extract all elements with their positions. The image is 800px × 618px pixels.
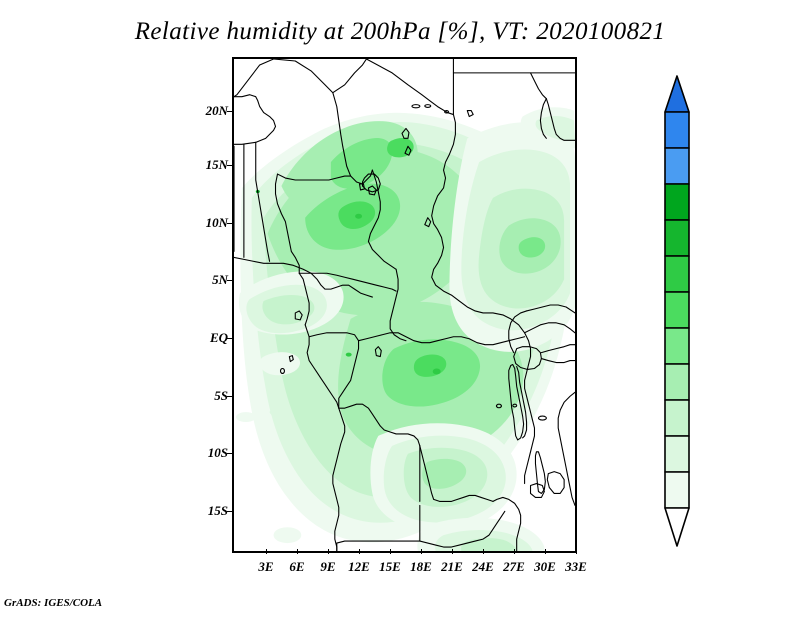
colorbar-over-arrow [665,76,689,112]
y-tick-label-5s: 5S [186,388,228,404]
y-tick-mark [227,453,232,454]
x-tick-mark [483,549,484,554]
x-tick-label-33e: 33E [565,559,587,575]
y-tick-label-eq: EQ [186,330,228,346]
map-canvas [234,59,575,551]
x-tick-mark [514,549,515,554]
x-tick-label-24e: 24E [472,559,494,575]
colorbar-band-40-50 [665,472,689,508]
colorbar-band-97-99 [665,112,689,148]
page-title: Relative humidity at 200hPa [%], VT: 202… [0,18,800,46]
y-tick-label-10s: 10S [186,445,228,461]
x-tick-label-6e: 6E [289,559,304,575]
colorbar-canvas [664,72,704,550]
colorbar-band-50-60 [665,436,689,472]
colorbar-band-80-85 [665,292,689,328]
x-tick-mark [297,549,298,554]
x-tick-mark [328,549,329,554]
colorbar-band-70-75 [665,364,689,400]
y-tick-label-15n: 15N [186,157,228,173]
colorbar-band-85-90 [665,256,689,292]
colorbar-band-60-70 [665,400,689,436]
y-tick-mark [227,111,232,112]
x-tick-mark [576,549,577,554]
grads-credit: GrADS: IGES/COLA [4,597,102,609]
colorbar-under-arrow [665,508,689,546]
x-tick-mark [421,549,422,554]
x-tick-label-3e: 3E [258,559,273,575]
y-tick-mark [227,223,232,224]
colorbar-band-90-92 [665,220,689,256]
y-tick-mark [227,511,232,512]
x-tick-label-30e: 30E [534,559,556,575]
colorbar-band-75-80 [665,328,689,364]
x-tick-mark [452,549,453,554]
y-tick-label-10n: 10N [186,215,228,231]
y-tick-mark [227,396,232,397]
colorbar-band-92-95 [665,184,689,220]
y-tick-mark [227,280,232,281]
colorbar-band-95-97 [665,148,689,184]
x-tick-mark [266,549,267,554]
grads-plot-page: Relative humidity at 200hPa [%], VT: 202… [0,0,800,618]
map-panel[interactable] [232,57,577,553]
x-tick-label-12e: 12E [348,559,370,575]
x-tick-label-27e: 27E [503,559,525,575]
x-tick-label-9e: 9E [320,559,335,575]
y-tick-mark [227,338,232,339]
y-tick-label-15s: 15S [186,503,228,519]
x-tick-label-15e: 15E [379,559,401,575]
x-tick-label-18e: 18E [410,559,432,575]
x-tick-label-21e: 21E [441,559,463,575]
y-tick-mark [227,165,232,166]
x-tick-mark [545,549,546,554]
x-tick-mark [359,549,360,554]
colorbar[interactable]: 99 97 95 92 90 85 80 75 70 60 50 40 [664,72,704,550]
y-tick-label-20n: 20N [186,103,228,119]
y-tick-label-5n: 5N [186,272,228,288]
x-tick-mark [390,549,391,554]
